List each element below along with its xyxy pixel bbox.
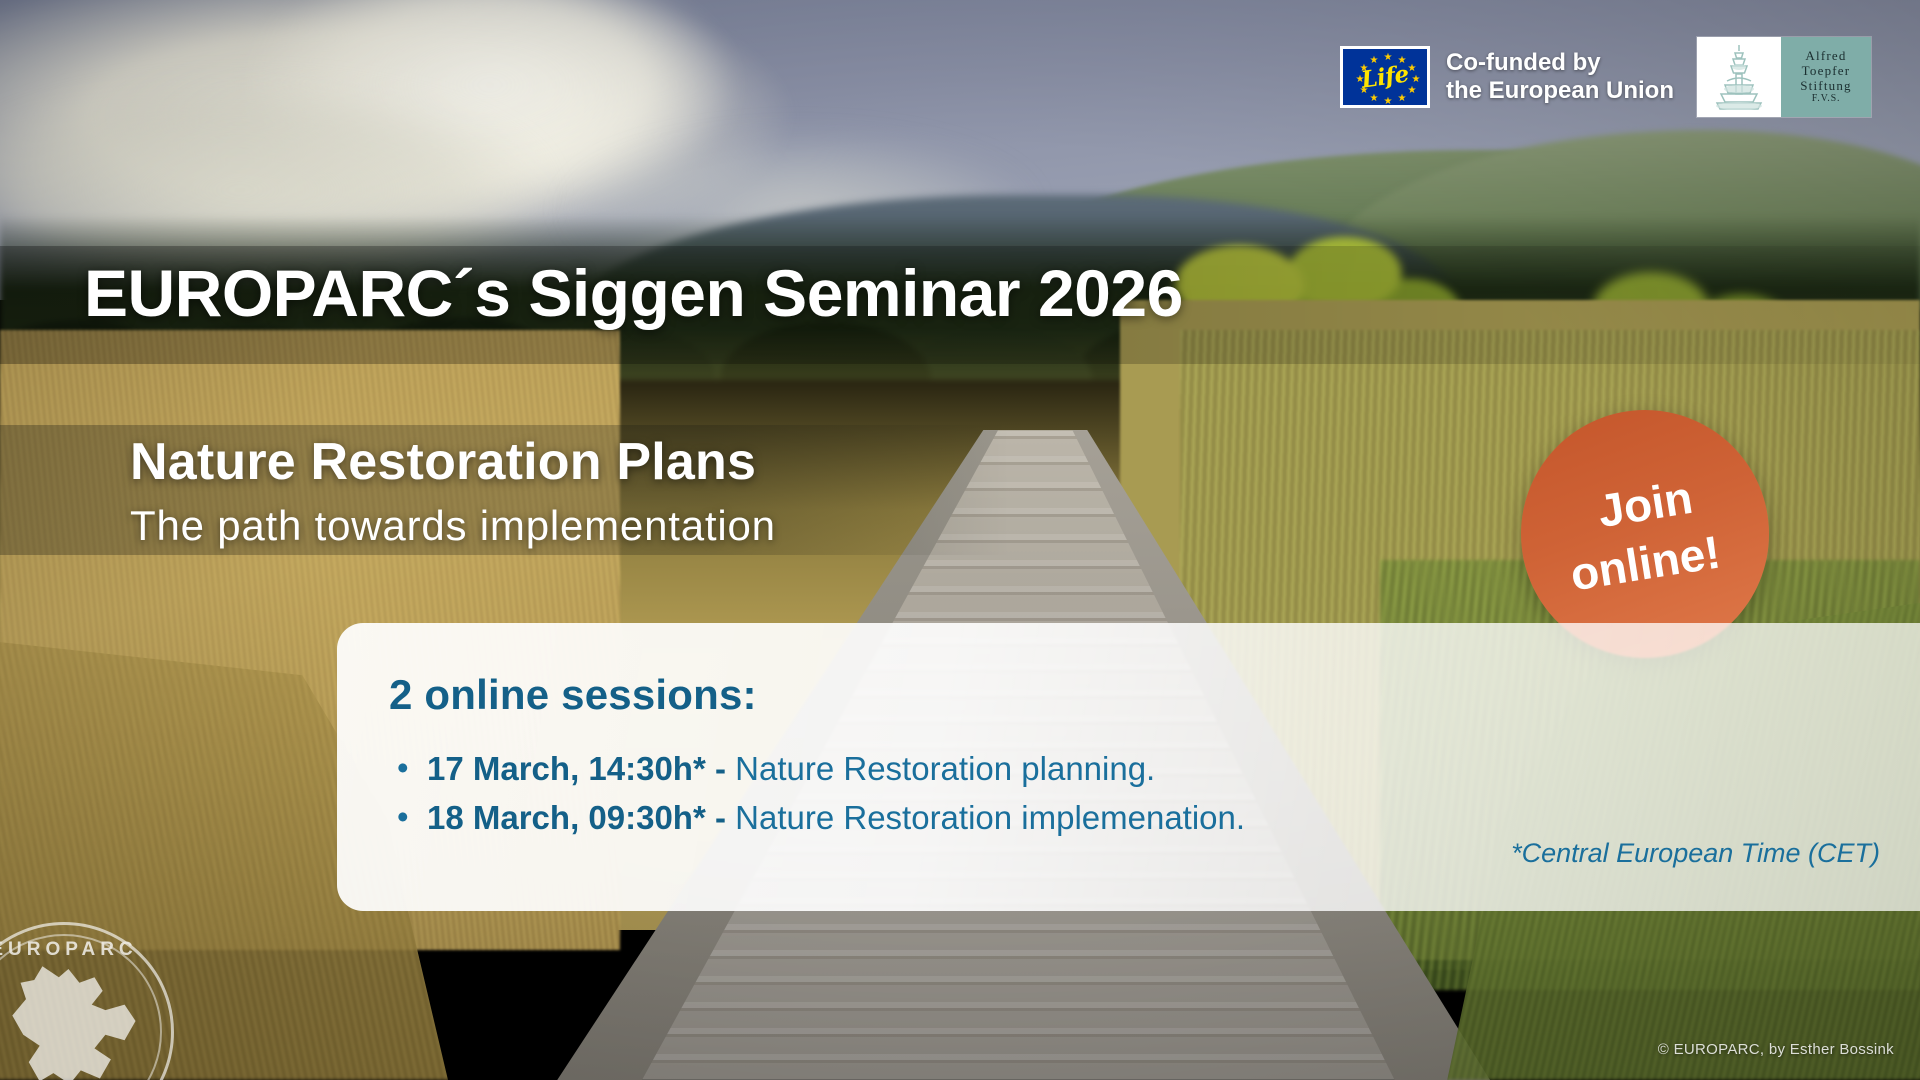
promotional-banner: ★ ★ ★ ★ ★ ★ ★ ★ ★ ★ ★ ★ Life Co-funded b… xyxy=(0,0,1920,1080)
ats-line3: Stiftung xyxy=(1800,79,1852,93)
ats-line2: Toepfer xyxy=(1802,64,1851,78)
logo-row: ★ ★ ★ ★ ★ ★ ★ ★ ★ ★ ★ ★ Life Co-funded b… xyxy=(1340,36,1872,118)
session-item: 18 March, 09:30h* - Nature Restoration i… xyxy=(389,794,1920,843)
photo-credit: © EUROPARC, by Esther Bossink xyxy=(1658,1041,1894,1058)
eu-funding-line1: Co-funded by xyxy=(1446,49,1674,77)
session-datetime: 18 March, 09:30h* - xyxy=(427,799,735,836)
alfred-toepfer-wordmark: Alfred Toepfer Stiftung F.V.S. xyxy=(1781,37,1871,117)
session-datetime: 17 March, 14:30h* - xyxy=(427,750,735,787)
eu-funding-line2: the European Union xyxy=(1446,77,1674,105)
join-online-badge[interactable]: Join online! xyxy=(1521,410,1769,658)
sessions-title: 2 online sessions: xyxy=(389,671,1920,719)
session-topic: Nature Restoration implemenation. xyxy=(735,799,1245,836)
ats-line4: F.V.S. xyxy=(1812,94,1841,105)
timezone-note: *Central European Time (CET) xyxy=(1511,838,1880,869)
fountain-icon xyxy=(1697,37,1781,117)
event-subtitle: Nature Restoration Plans xyxy=(130,432,756,492)
europarc-federation-logo: EUROPARC FEDERATION xyxy=(0,922,174,1080)
watermark-top-text: EUROPARC xyxy=(0,939,171,961)
sessions-list: 17 March, 14:30h* - Nature Restoration p… xyxy=(389,745,1920,843)
session-item: 17 March, 14:30h* - Nature Restoration p… xyxy=(389,745,1920,794)
ats-line1: Alfred xyxy=(1805,49,1846,63)
eu-life-logo: ★ ★ ★ ★ ★ ★ ★ ★ ★ ★ ★ ★ Life Co-funded b… xyxy=(1340,46,1674,108)
session-topic: Nature Restoration planning. xyxy=(735,750,1155,787)
eu-flag-life-icon: ★ ★ ★ ★ ★ ★ ★ ★ ★ ★ ★ ★ Life xyxy=(1340,46,1430,108)
join-badge-line2: online! xyxy=(1566,523,1724,605)
sessions-panel: 2 online sessions: 17 March, 14:30h* - N… xyxy=(337,623,1920,911)
event-title: EUROPARC´s Siggen Seminar 2026 xyxy=(84,255,1183,331)
eu-funding-text: Co-funded by the European Union xyxy=(1446,49,1674,105)
event-tagline: The path towards implementation xyxy=(130,502,776,550)
alfred-toepfer-stiftung-logo: Alfred Toepfer Stiftung F.V.S. xyxy=(1696,36,1872,118)
